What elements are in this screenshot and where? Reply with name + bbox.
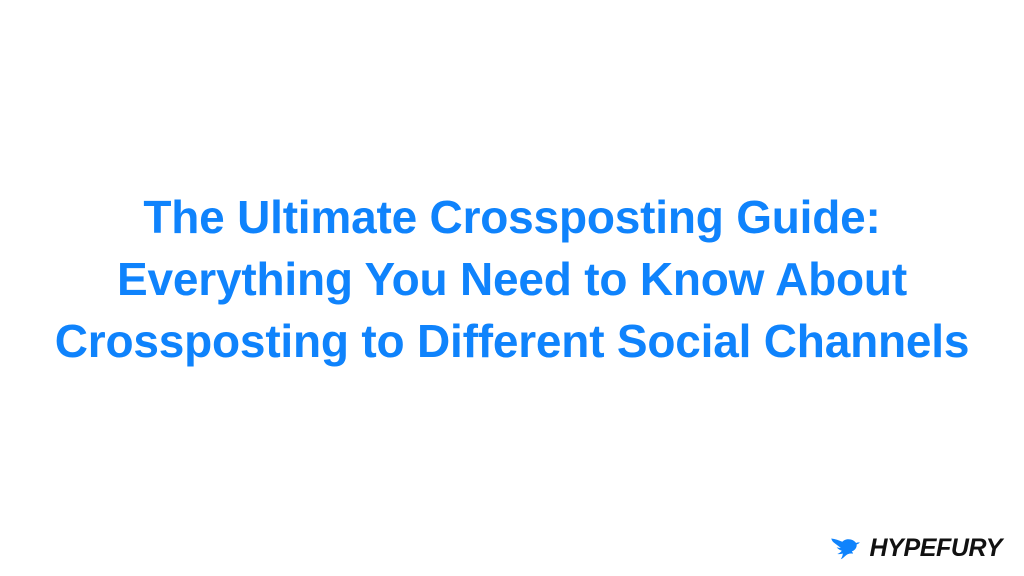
hypefury-wordmark: HYPEFURY	[870, 536, 1002, 561]
slide-canvas: The Ultimate Crossposting Guide: Everyth…	[0, 0, 1024, 576]
title-line-1: The Ultimate Crossposting Guide:	[13, 186, 1011, 248]
title-line-2: Everything You Need to Know About	[13, 248, 1011, 310]
hypefury-bird-icon	[830, 536, 861, 560]
title-line-3: Crossposting to Different Social Channel…	[13, 310, 1011, 372]
hypefury-logo: HYPEFURY	[830, 533, 1002, 563]
page-title: The Ultimate Crossposting Guide: Everyth…	[7, 186, 1017, 372]
headline-container: The Ultimate Crossposting Guide: Everyth…	[0, 0, 1024, 576]
